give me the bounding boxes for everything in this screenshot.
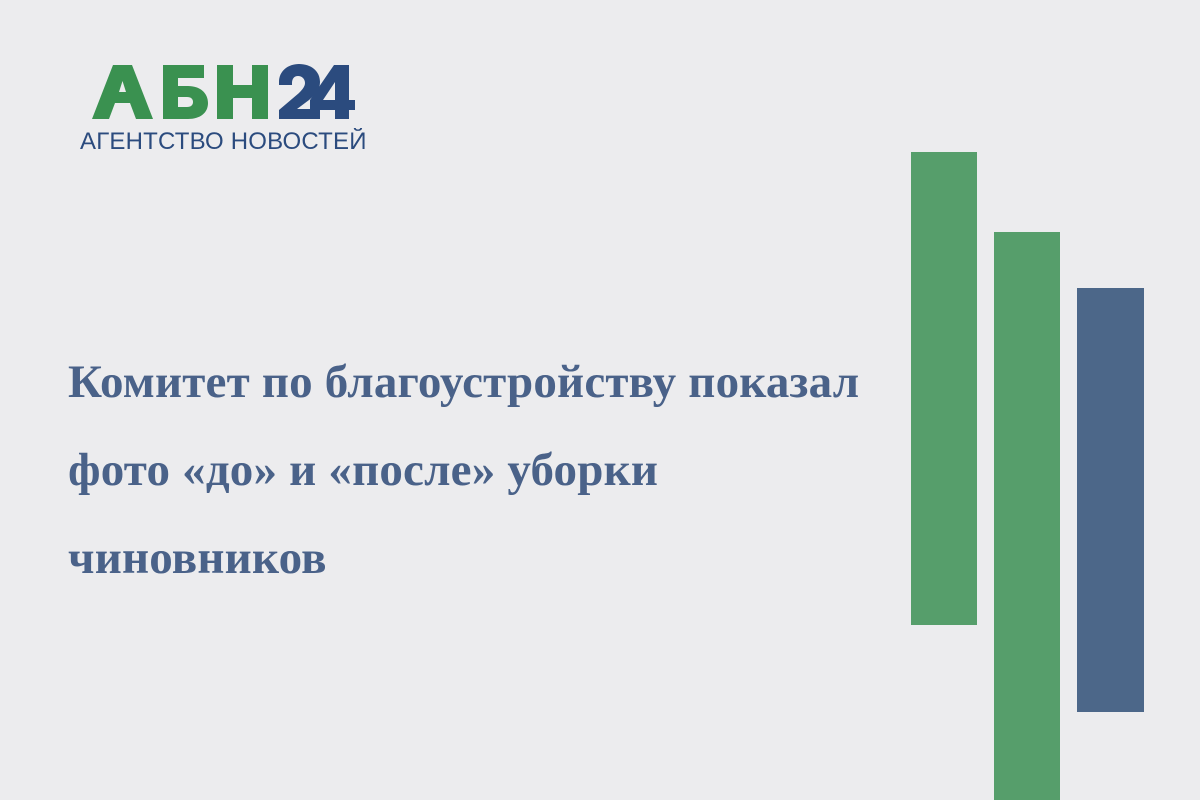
logo[interactable]: АГЕНТСТВО НОВОСТЕЙ (80, 62, 380, 162)
decorative-bar-blue (1077, 288, 1144, 712)
news-card: АГЕНТСТВО НОВОСТЕЙ Комитет по благоустро… (0, 0, 1200, 800)
decorative-bar-green-long (994, 232, 1060, 800)
decorative-bar-green-tall (911, 152, 977, 625)
logo-tagline-text: АГЕНТСТВО НОВОСТЕЙ (80, 128, 365, 154)
headline: Комитет по благоустройству показал фото … (68, 338, 878, 602)
logo-tagline: АГЕНТСТВО НОВОСТЕЙ (80, 128, 365, 154)
logo-wordmark-abn24 (80, 62, 355, 122)
